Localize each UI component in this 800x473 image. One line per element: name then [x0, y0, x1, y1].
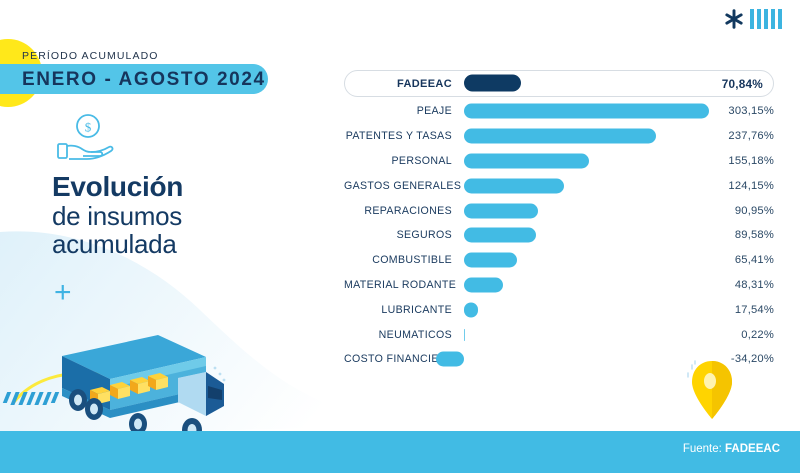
chart-row-track [464, 347, 709, 372]
speed-lines-icon [5, 392, 57, 405]
chart-row-label: LUBRICANTE [344, 304, 464, 316]
chart-row-value: 90,95% [709, 205, 774, 217]
map-pin-icon [686, 359, 738, 435]
chart-bar [464, 253, 517, 268]
chart-row-track [464, 71, 709, 96]
source-name: FADEEAC [725, 443, 780, 455]
chart-row-label: REPARACIONES [344, 205, 464, 217]
page-title: Evolución de insumos acumulada [52, 172, 183, 258]
chart-row-value: 89,58% [709, 229, 774, 241]
chart-row: PATENTES Y TASAS237,76% [344, 124, 774, 149]
chart-row-label: MATERIAL RODANTE [344, 279, 464, 291]
chart-row-label: FADEEAC [345, 78, 464, 90]
chart-row-value: 237,76% [709, 130, 774, 142]
title-line-3: acumulada [52, 230, 183, 258]
chart-row-label: SEGUROS [344, 229, 464, 241]
chart-bar [464, 203, 538, 218]
chart-bar [464, 104, 709, 119]
plus-decor: + [54, 278, 72, 308]
chart-row: COMBUSTIBLE65,41% [344, 248, 774, 273]
chart-bar [464, 228, 536, 243]
chart-bar [436, 352, 464, 367]
chart-row-track [464, 198, 709, 223]
chart-row-value: 303,15% [709, 105, 774, 117]
chart-row-track [464, 173, 709, 198]
hand-holding-dollar-icon: $ [56, 112, 118, 164]
title-line-1: Evolución [52, 172, 183, 202]
chart-row-track [464, 149, 709, 174]
chart-row: MATERIAL RODANTE48,31% [344, 273, 774, 298]
bars-icon [750, 9, 782, 29]
chart-row-value: 124,15% [709, 180, 774, 192]
bar-chart: FADEEAC70,84%PEAJE303,15%PATENTES Y TASA… [344, 70, 774, 372]
chart-row: NEUMATICOS0,22% [344, 322, 774, 347]
brand-logo [723, 8, 782, 30]
infographic-canvas: PERÍODO ACUMULADO ENERO - AGOSTO 2024 $ … [0, 0, 800, 473]
chart-row-highlight: FADEEAC70,84% [344, 70, 774, 97]
chart-row: GASTOS GENERALES124,15% [344, 173, 774, 198]
svg-text:$: $ [85, 120, 92, 135]
chart-row-label: GASTOS GENERALES [344, 180, 464, 192]
chart-row-value: 48,31% [709, 279, 774, 291]
chart-row-value: 70,84% [709, 77, 773, 91]
chart-row-label: PEAJE [344, 105, 464, 117]
chart-row: PERSONAL155,18% [344, 149, 774, 174]
chart-row: REPARACIONES90,95% [344, 198, 774, 223]
chart-row-label: NEUMATICOS [344, 329, 464, 341]
chart-row-label: PATENTES Y TASAS [344, 130, 464, 142]
chart-row-value: 17,54% [709, 304, 774, 316]
period-title: ENERO - AGOSTO 2024 [22, 69, 266, 91]
chart-row-track [464, 99, 709, 124]
chart-bar [464, 178, 564, 193]
chart-bar [464, 129, 656, 144]
title-line-2: de insumos [52, 202, 183, 230]
chart-row-track [464, 297, 709, 322]
asterisk-icon [723, 8, 745, 30]
chart-row-track [464, 273, 709, 298]
chart-row-track [464, 248, 709, 273]
chart-row-value: 0,22% [709, 329, 774, 341]
chart-row-value: 65,41% [709, 254, 774, 266]
chart-row-track [464, 223, 709, 248]
chart-row-track [464, 322, 709, 347]
chart-bar [464, 153, 589, 168]
chart-row: SEGUROS89,58% [344, 223, 774, 248]
chart-row-label: PERSONAL [344, 155, 464, 167]
source-label: Fuente: FADEEAC [683, 443, 780, 455]
chart-bar [464, 75, 521, 92]
period-kicker: PERÍODO ACUMULADO [22, 50, 159, 62]
chart-bar [464, 329, 465, 341]
source-prefix: Fuente: [683, 443, 725, 455]
chart-row-label: COMBUSTIBLE [344, 254, 464, 266]
chart-row: PEAJE303,15% [344, 99, 774, 124]
footer-bar: Fuente: FADEEAC [0, 431, 800, 473]
chart-bar [464, 277, 503, 292]
chart-bar [464, 302, 478, 317]
chart-row: LUBRICANTE17,54% [344, 297, 774, 322]
chart-row-value: 155,18% [709, 155, 774, 167]
chart-row-track [464, 124, 709, 149]
